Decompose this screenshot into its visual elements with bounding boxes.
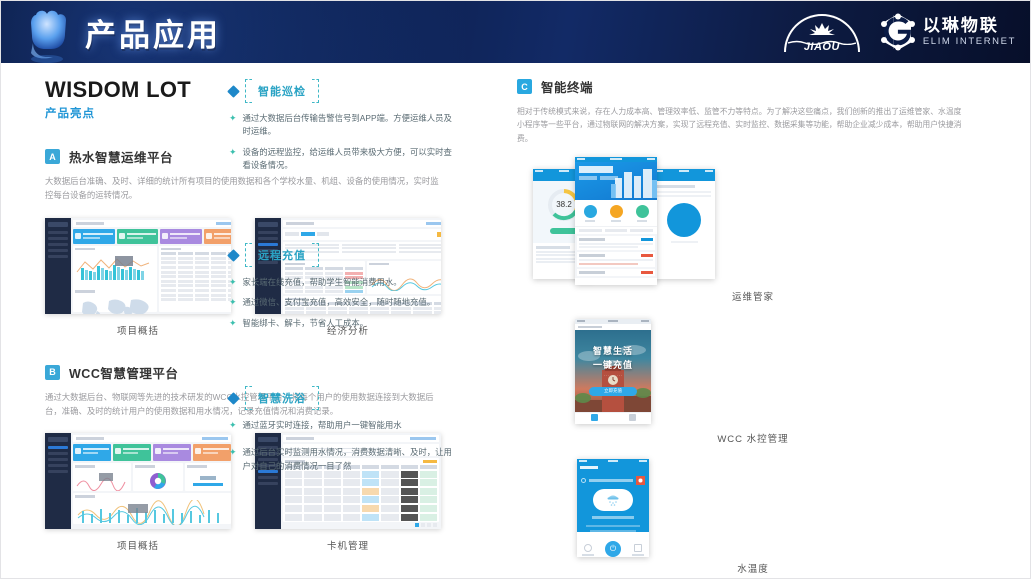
- elim-logo: 以琳物联 ELIM INTERNET: [880, 13, 1016, 51]
- icon-tile-3[interactable]: [636, 205, 649, 222]
- mock-area-line: [75, 470, 129, 491]
- diamond-icon: [227, 249, 240, 262]
- header-divider: [893, 15, 894, 49]
- mock-world-map: [75, 295, 155, 314]
- app-caption-water-temp: 水温度: [517, 561, 989, 575]
- header-logos: JIAOU 以琳物联 ELIM INTERNET: [780, 1, 1016, 63]
- tabbar-item-mine[interactable]: [632, 544, 644, 556]
- section-a-badge: A: [45, 149, 60, 164]
- section-b-title: WCC智慧管理平台: [69, 363, 178, 382]
- section-a-title: 热水智慧运维平台: [69, 147, 173, 166]
- bullet-text: 设备的远程监控，给运维人员带来极大方便，可以实时查看设备情况。: [243, 146, 454, 173]
- feature-title-bracket: 远程充值: [245, 243, 319, 267]
- svg-text:38.2: 38.2: [556, 200, 572, 209]
- feature-bullets: ✦通过蓝牙实时连接，帮助用户一键智能用水 ✦通过后台实时监测用水情况，消费数据清…: [229, 419, 454, 473]
- bullet-item: ✦智能绑卡、解卡，节省人工成本。: [229, 317, 435, 330]
- poster-page: 产品应用 JIAOU: [0, 0, 1031, 579]
- avatar-icon: [636, 476, 645, 485]
- right-column: C 智能终端 相对于传统模式来说，存在人力成本高、管理效率低、监管不力等特点。为…: [489, 77, 989, 575]
- bullet-item: ✦设备的远程监控，给运维人员带来极大方便，可以实时查看设备情况。: [229, 146, 454, 173]
- section-c-title: 智能终端: [541, 77, 593, 96]
- bullet-text: 通过蓝牙实时连接，帮助用户一键智能用水: [243, 419, 402, 432]
- bullet-text: 通过微信、支付宝充值，高效安全，随时随地充值。: [243, 296, 436, 309]
- bullet-marker-icon: ✦: [229, 276, 237, 289]
- bullet-text: 智能绑卡、解卡，节省人工成本。: [243, 317, 369, 330]
- mock-sidebar: [45, 218, 71, 314]
- icon-tile-1[interactable]: [584, 205, 597, 222]
- phone-water-temperature[interactable]: ⏻: [577, 459, 649, 557]
- section-c-badge: C: [517, 79, 532, 94]
- bullet-item: ✦通过微信、支付宝充值，高效安全，随时随地充值。: [229, 296, 435, 309]
- bullet-item: ✦家长端在线充值，帮助学生智能消费用水。: [229, 276, 435, 289]
- diamond-icon: [227, 392, 240, 405]
- phone-wcc-recharge[interactable]: 智慧生活 一键充值 · · · · · · · · · 立即充值: [575, 319, 651, 424]
- alert-list-item[interactable]: [577, 236, 655, 251]
- bullet-marker-icon: ✦: [229, 419, 237, 432]
- mock-sidebar: [45, 433, 71, 529]
- bullet-text: 通过后台实时监测用水情况，消费数据清晰、及时，让用户对自己的消费情况一目了然: [243, 446, 454, 473]
- bullet-marker-icon: ✦: [229, 317, 237, 330]
- bullet-marker-icon: ✦: [229, 112, 237, 139]
- fist-icon: [19, 3, 77, 63]
- mock-pie-chart: [135, 470, 181, 491]
- screenshot-caption: 卡机管理: [255, 538, 441, 552]
- mock-bar-line-chart: [75, 252, 155, 282]
- bullet-text: 家长端在线充值，帮助学生智能消费用水。: [243, 276, 402, 289]
- tabbar-item-mine[interactable]: [629, 414, 636, 421]
- section-c-desc: 相对于传统模式来说，存在人力成本高、管理效率低、监管不力等特点。为了解决这些痛点…: [517, 105, 969, 145]
- page-header: 产品应用 JIAOU: [1, 1, 1030, 63]
- screenshot-project-overview-2[interactable]: 项目概括: [45, 433, 231, 552]
- tabbar-item-home[interactable]: [591, 414, 598, 421]
- bullet-marker-icon: ✦: [229, 446, 237, 473]
- jiaou-logo: JIAOU: [780, 9, 864, 55]
- alert-list-item[interactable]: [577, 252, 655, 267]
- mock-bar-line-chart-2: [75, 500, 229, 525]
- elim-logo-cn: 以琳物联: [923, 17, 1016, 36]
- phone-inspection[interactable]: [653, 169, 715, 279]
- jiaou-logo-text: JIAOU: [780, 41, 864, 53]
- app-caption-wcc: WCC 水控管理: [517, 431, 989, 445]
- app-ops-butler: 38.2: [517, 157, 989, 307]
- feature-bullets: ✦通过大数据后台传输告警信号到APP端。方便运维人员及时运维。 ✦设备的远程监控…: [229, 112, 454, 173]
- phone-ops-butler-home[interactable]: [575, 157, 657, 285]
- wave-divider: [577, 531, 649, 540]
- bullet-item: ✦通过蓝牙实时连接，帮助用户一键智能用水: [229, 419, 454, 432]
- bullet-item: ✦通过后台实时监测用水情况，消费数据清晰、及时，让用户对自己的消费情况一目了然: [229, 446, 454, 473]
- feature-smart-inspection: 智能巡检 ✦通过大数据后台传输告警信号到APP端。方便运维人员及时运维。 ✦设备…: [229, 79, 454, 180]
- jiaou-sun-icon: [806, 23, 838, 39]
- feature-title-bracket: 智能巡检: [245, 79, 319, 103]
- feature-title: 智能巡检: [258, 86, 306, 98]
- bullet-marker-icon: ✦: [229, 296, 237, 309]
- tabbar-item-records[interactable]: [582, 544, 594, 556]
- bullet-text: 通过大数据后台传输告警信号到APP端。方便运维人员及时运维。: [243, 112, 454, 139]
- screenshot-project-overview[interactable]: 项目概括: [45, 218, 231, 337]
- screenshot-caption: 项目概括: [45, 538, 231, 552]
- poster-body: WISDOM LOT 产品亮点 A 热水智慧运维平台 大数据后台准确、及时、详细…: [1, 63, 1030, 575]
- feature-title-bracket: 智慧洗浴: [245, 386, 319, 410]
- feature-title: 智慧洗浴: [258, 393, 306, 405]
- screenshot-caption: 项目概括: [45, 323, 231, 337]
- diamond-icon: [227, 85, 240, 98]
- elim-logo-en: ELIM INTERNET: [923, 36, 1016, 47]
- city-illustration: [611, 164, 657, 200]
- bullet-marker-icon: ✦: [229, 146, 237, 173]
- wcc-title-line1: 智慧生活: [575, 344, 651, 357]
- section-b-badge: B: [45, 365, 60, 380]
- feature-bullets: ✦家长端在线充值，帮助学生智能消费用水。 ✦通过微信、支付宝充值，高效安全，随时…: [229, 276, 435, 330]
- feature-smart-bathing: 智慧洗浴 ✦通过蓝牙实时连接，帮助用户一键智能用水 ✦通过后台实时监测用水情况，…: [229, 386, 454, 480]
- app-water-temp: ⏻: [517, 459, 989, 557]
- wcc-title-line2: 一键充值: [575, 358, 651, 371]
- tabbar-item-start[interactable]: ⏻: [605, 541, 621, 557]
- feature-remote-recharge: 远程充值 ✦家长端在线充值，帮助学生智能消费用水。 ✦通过微信、支付宝充值，高效…: [229, 243, 435, 337]
- elim-mark-icon: [880, 13, 916, 51]
- app-wcc-recharge: 智慧生活 一键充值 · · · · · · · · · 立即充值: [517, 319, 989, 427]
- shower-head-icon: [605, 493, 621, 507]
- wcc-recharge-button[interactable]: 立即充值: [589, 387, 637, 396]
- page-title: 产品应用: [85, 10, 221, 55]
- alert-list-item[interactable]: [577, 269, 655, 276]
- feature-title: 远程充值: [258, 250, 306, 262]
- bullet-item: ✦通过大数据后台传输告警信号到APP端。方便运维人员及时运维。: [229, 112, 454, 139]
- icon-tile-2[interactable]: [610, 205, 623, 222]
